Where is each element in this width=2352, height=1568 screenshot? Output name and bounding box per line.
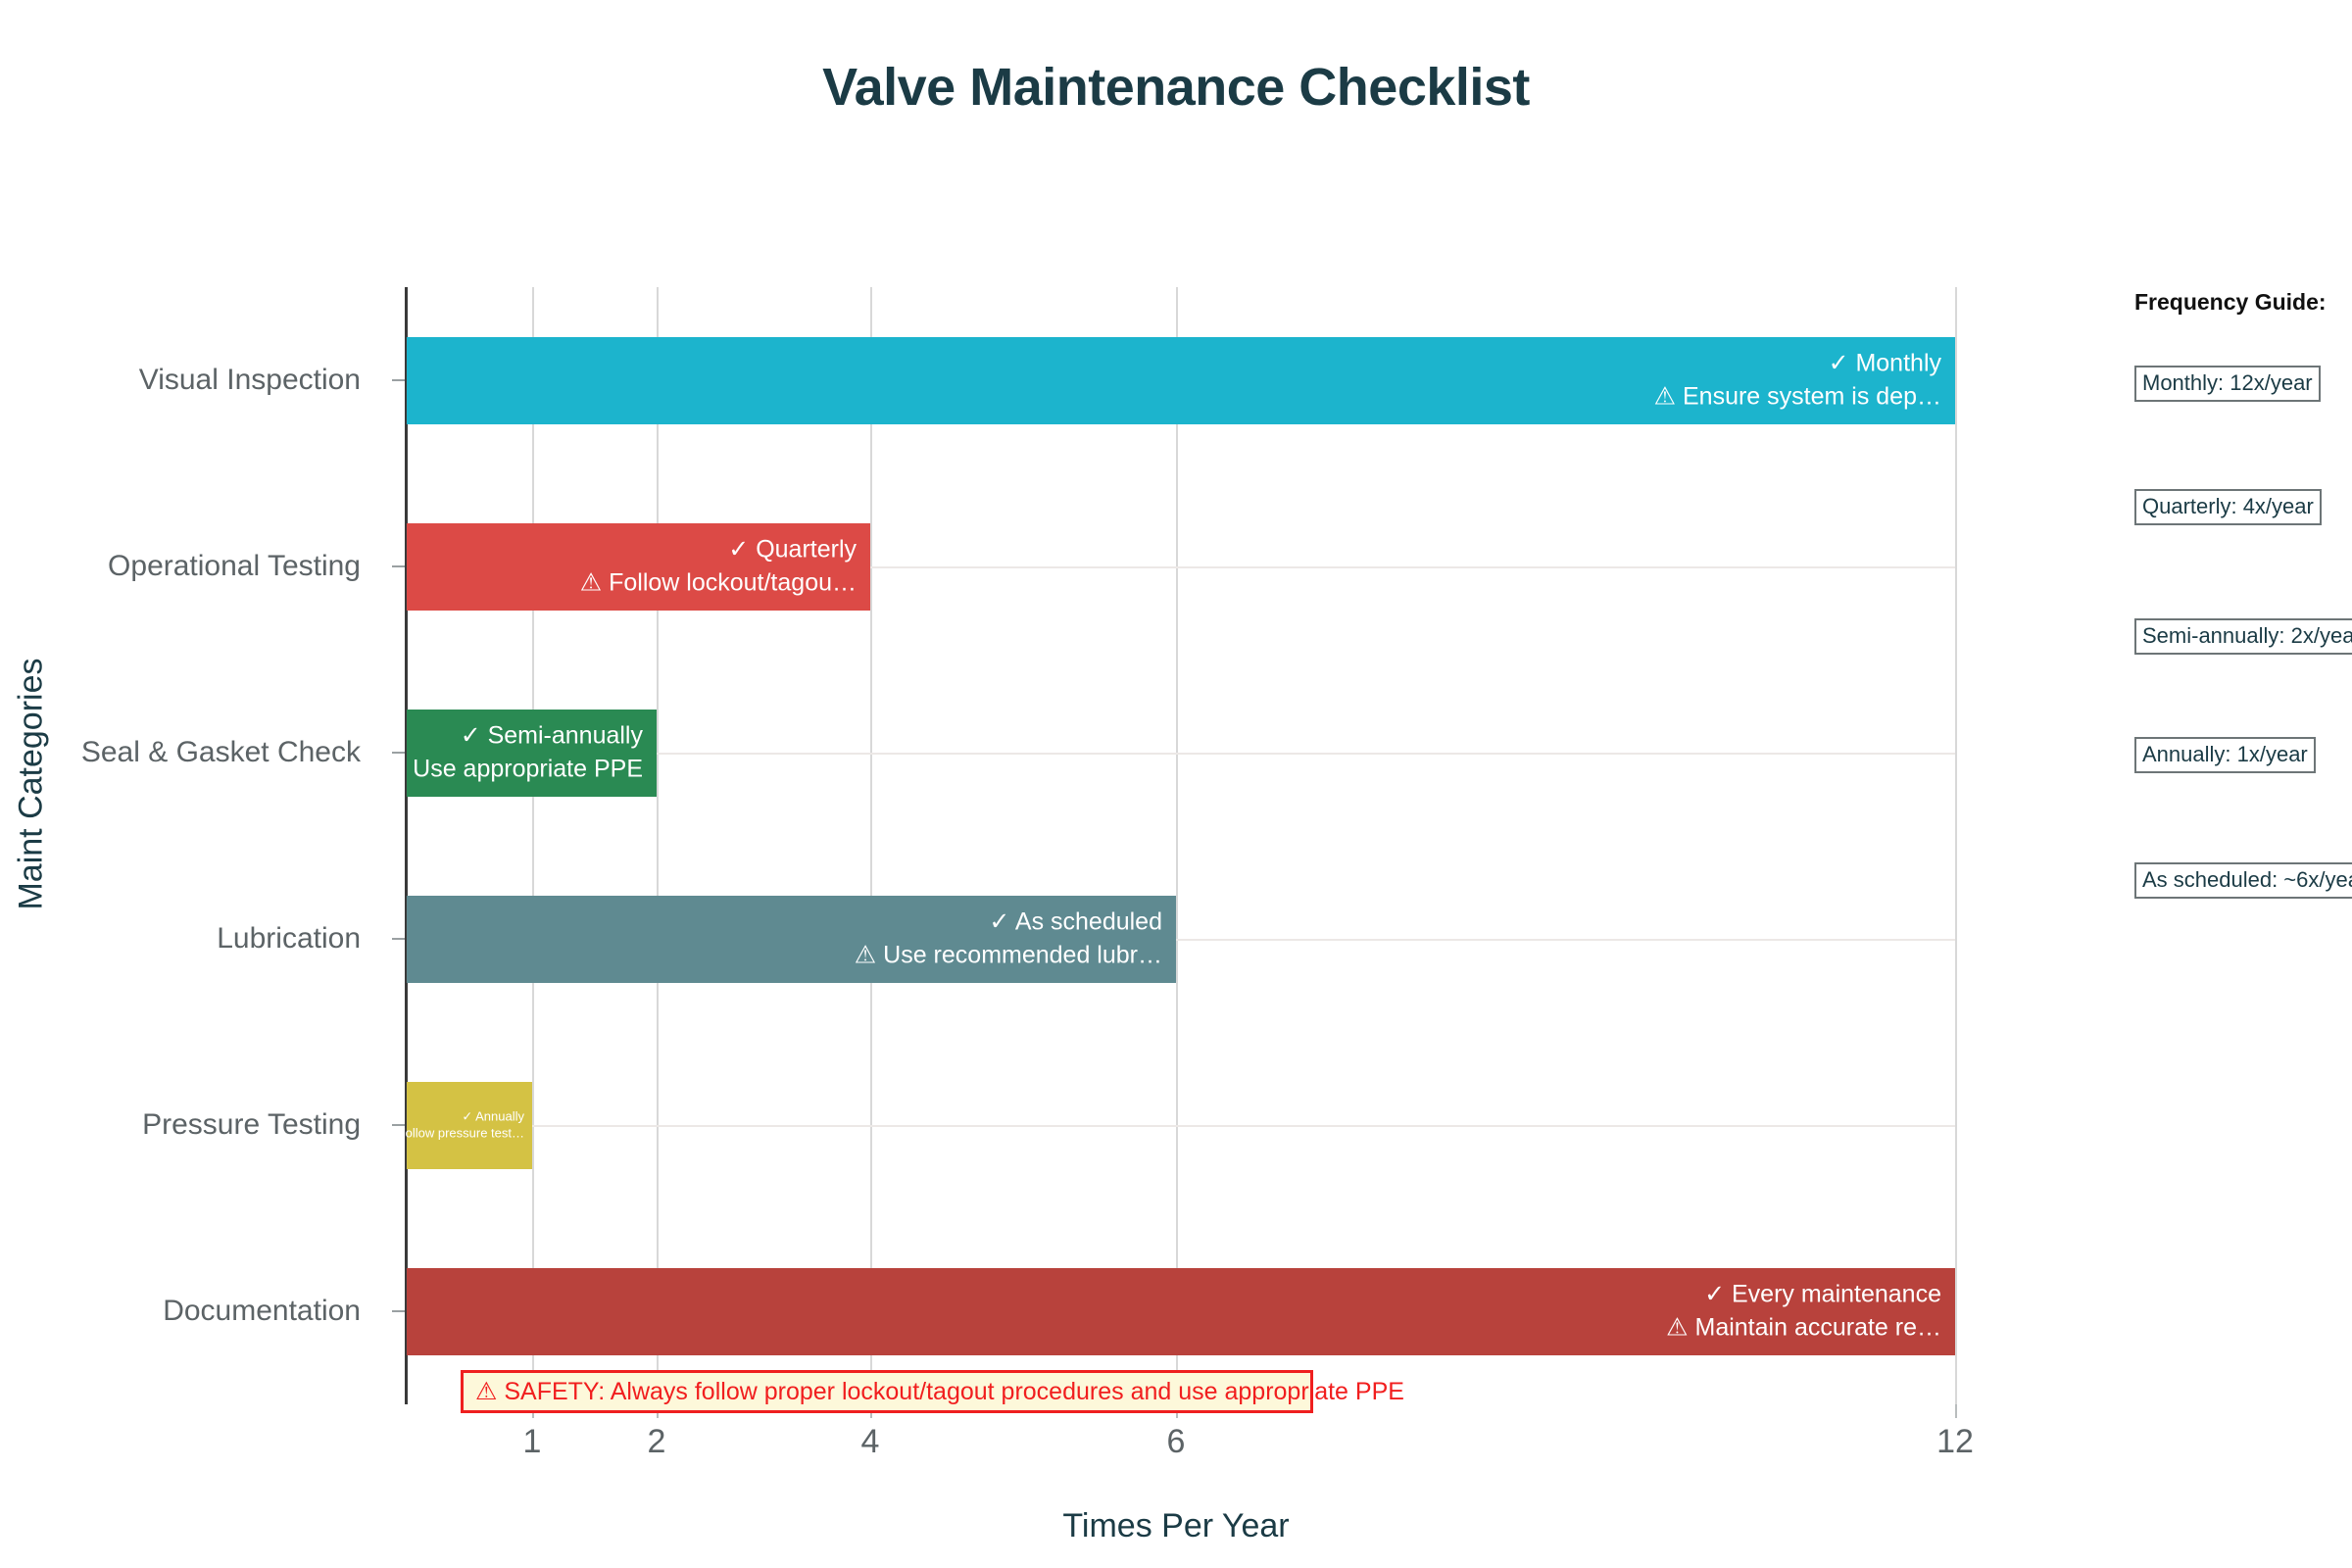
gridline-vertical	[1176, 287, 1178, 1404]
bar-documentation[interactable]: ✓ Every maintenance⚠ Maintain accurate r…	[407, 1268, 1955, 1355]
y-tick-label: Documentation	[163, 1295, 361, 1328]
bar-row[interactable]: ✓ Monthly⚠ Ensure system is dep…	[407, 337, 1955, 424]
bar-row[interactable]: ✓ Every maintenance⚠ Maintain accurate r…	[407, 1268, 1955, 1355]
bar-warning-label: ⚠ Use appropriate PPE	[384, 753, 643, 786]
y-axis-spine	[405, 287, 408, 1404]
y-tick-mark	[392, 752, 405, 754]
safety-banner: ⚠ SAFETY: Always follow proper lockout/t…	[461, 1370, 1313, 1413]
gridline-vertical	[870, 287, 872, 1404]
y-tick-label: Seal & Gasket Check	[81, 736, 361, 769]
bar-frequency-label: ✓ Quarterly	[580, 534, 857, 567]
bar-frequency-label: ✓ Every maintenance	[1666, 1279, 1941, 1312]
y-tick-mark	[392, 565, 405, 567]
bar-warning-label: ⚠ Ensure system is dep…	[1654, 380, 1941, 414]
x-tick-label: 6	[1167, 1423, 1186, 1461]
bar-seal-gasket-check[interactable]: ✓ Semi-annually⚠ Use appropriate PPE	[407, 710, 657, 797]
x-tick-label: 1	[523, 1423, 542, 1461]
x-tick-label: 2	[648, 1423, 666, 1461]
y-tick-label: Visual Inspection	[139, 364, 361, 397]
bar-warning-label: ⚠ Maintain accurate re…	[1666, 1311, 1941, 1345]
bar-frequency-label: ✓ Monthly	[1654, 348, 1941, 381]
y-axis-title: Maint Categories	[13, 588, 51, 980]
plot-area: ✓ Monthly⚠ Ensure system is dep…✓ Quarte…	[407, 287, 1955, 1404]
bar-label: ✓ Every maintenance⚠ Maintain accurate r…	[1666, 1279, 1941, 1345]
bar-row[interactable]: ✓ Semi-annually⚠ Use appropriate PPE	[407, 710, 657, 797]
bar-visual-inspection[interactable]: ✓ Monthly⚠ Ensure system is dep…	[407, 337, 1955, 424]
bar-warning-label: ⚠ Follow lockout/tagou…	[580, 566, 857, 600]
legend-item: Monthly: 12x/year	[2134, 366, 2321, 402]
y-tick-mark	[392, 1124, 405, 1126]
safety-banner-text: ⚠ SAFETY: Always follow proper lockout/t…	[475, 1377, 1404, 1406]
gridline-vertical	[1955, 287, 1957, 1404]
x-tick-label: 12	[1936, 1423, 1974, 1461]
bar-frequency-label: ✓ Semi-annually	[384, 720, 643, 754]
gridline-vertical	[657, 287, 659, 1404]
bar-row[interactable]: ✓ Annually⚠ Follow pressure test…	[407, 1082, 532, 1169]
gridline-vertical	[532, 287, 534, 1404]
y-tick-mark	[392, 1310, 405, 1312]
bar-warning-label: ⚠ Use recommended lubr…	[855, 939, 1162, 972]
legend-item: Semi-annually: 2x/year	[2134, 618, 2352, 655]
legend-item: As scheduled: ~6x/year	[2134, 862, 2352, 899]
x-tick-mark	[1955, 1404, 1957, 1418]
bar-lubrication[interactable]: ✓ As scheduled⚠ Use recommended lubr…	[407, 896, 1176, 983]
bar-label: ✓ Quarterly⚠ Follow lockout/tagou…	[580, 534, 857, 600]
bar-operational-testing[interactable]: ✓ Quarterly⚠ Follow lockout/tagou…	[407, 523, 870, 611]
gridline-horizontal	[407, 1125, 1955, 1127]
bar-label: ✓ As scheduled⚠ Use recommended lubr…	[855, 906, 1162, 972]
bar-label: ✓ Monthly⚠ Ensure system is dep…	[1654, 348, 1941, 414]
y-tick-mark	[392, 938, 405, 940]
y-tick-label: Lubrication	[217, 922, 361, 955]
bar-row[interactable]: ✓ As scheduled⚠ Use recommended lubr…	[407, 896, 1176, 983]
page-title: Valve Maintenance Checklist	[0, 57, 2352, 118]
x-axis-title: Times Per Year	[0, 1507, 2352, 1545]
legend-title: Frequency Guide:	[2134, 289, 2327, 316]
y-tick-label: Operational Testing	[108, 550, 361, 583]
bar-pressure-testing[interactable]: ✓ Annually⚠ Follow pressure test…	[407, 1082, 532, 1169]
legend-item: Annually: 1x/year	[2134, 737, 2316, 773]
y-tick-mark	[392, 379, 405, 381]
bar-label: ✓ Semi-annually⚠ Use appropriate PPE	[384, 720, 643, 786]
x-tick-label: 4	[861, 1423, 880, 1461]
bar-row[interactable]: ✓ Quarterly⚠ Follow lockout/tagou…	[407, 523, 870, 611]
bar-frequency-label: ✓ As scheduled	[855, 906, 1162, 940]
legend-item: Quarterly: 4x/year	[2134, 489, 2322, 525]
y-tick-label: Pressure Testing	[142, 1108, 361, 1142]
